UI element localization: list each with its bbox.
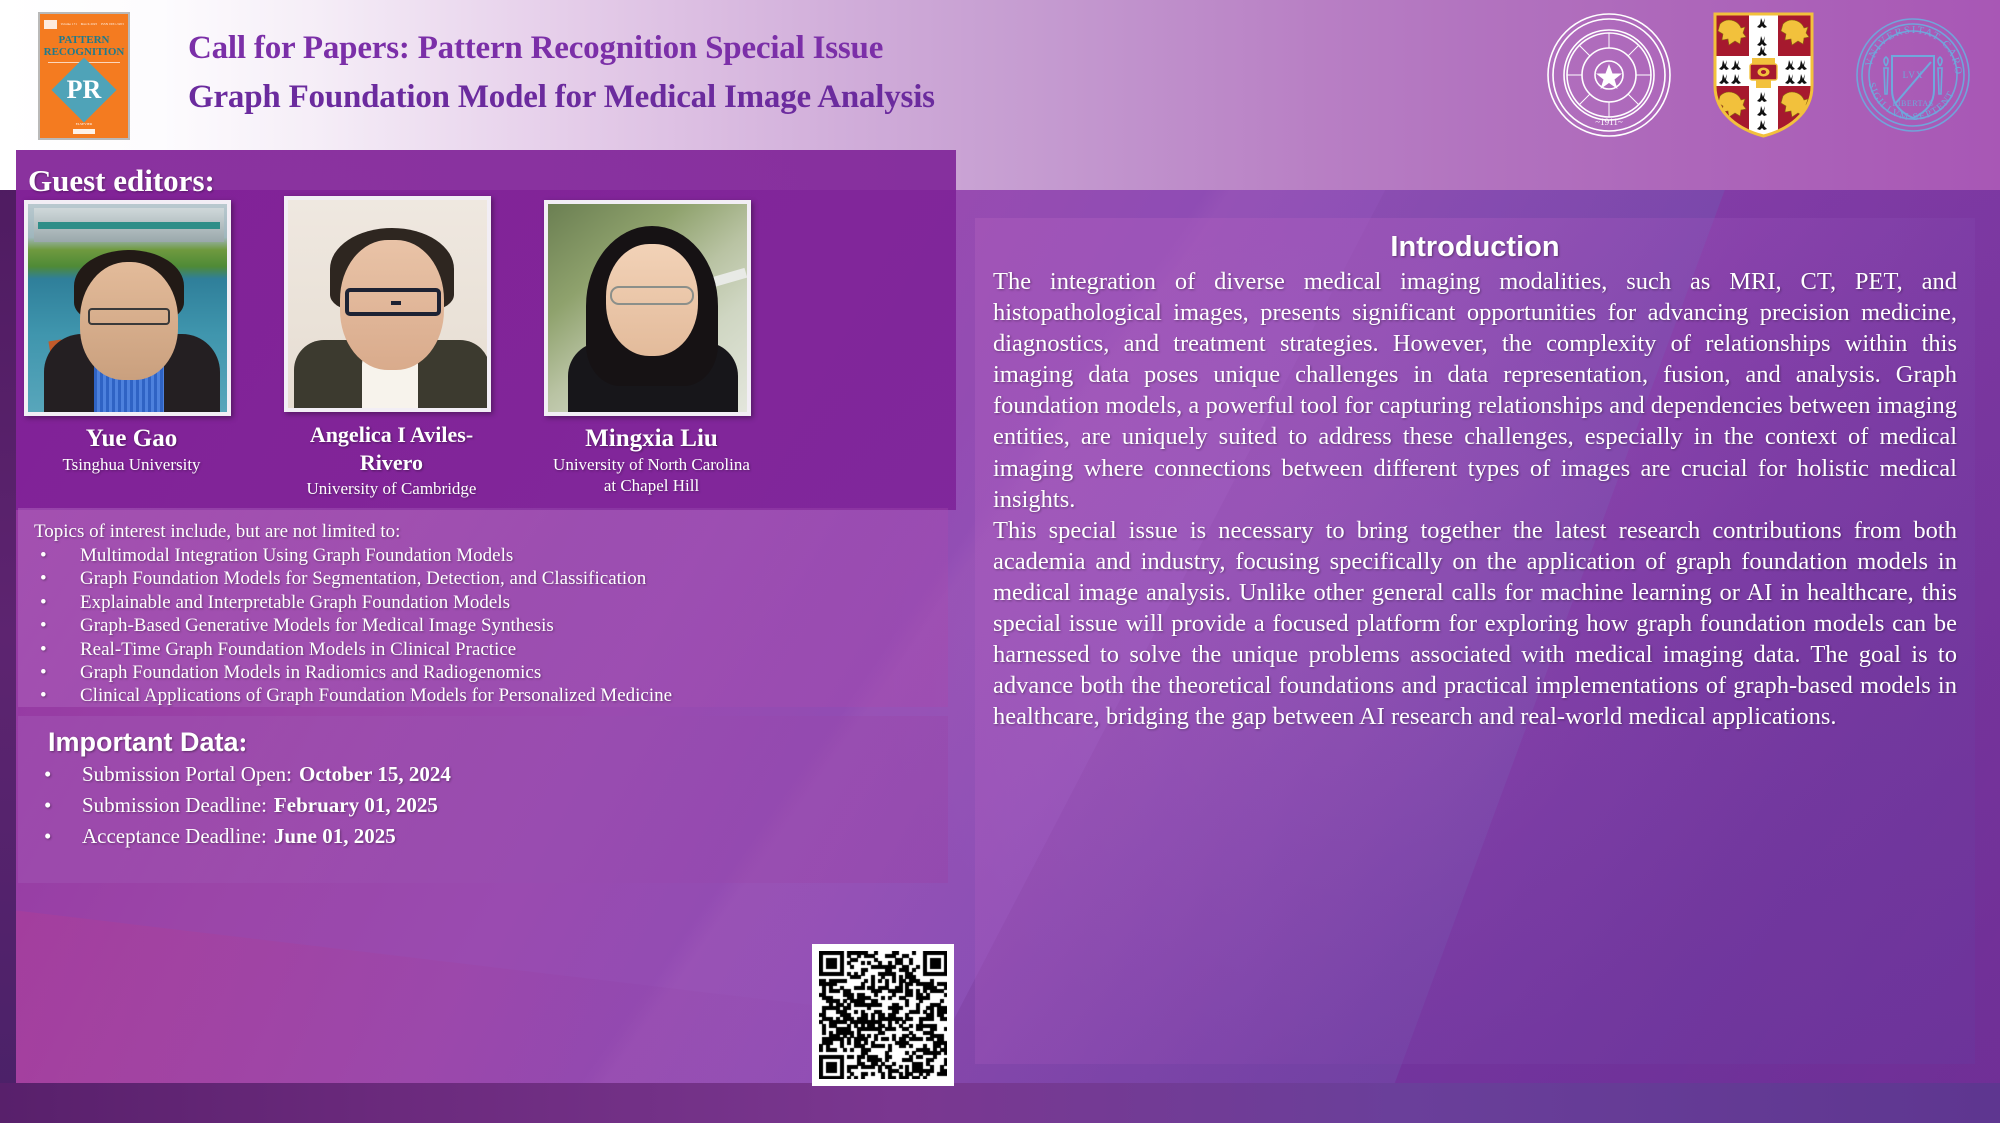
university-of-cambridge-coat-of-arms-icon xyxy=(1711,10,1816,140)
introduction-paragraph: This special issue is necessary to bring… xyxy=(993,515,1957,733)
bullet-icon: • xyxy=(34,821,82,852)
portrait-yue-gao xyxy=(24,200,231,416)
bullet-icon: • xyxy=(34,684,80,707)
bullet-icon: • xyxy=(34,591,80,614)
important-dates-heading-text: Important Data xyxy=(48,727,239,757)
call-for-papers-poster: Volume 171 March 2025 ISSN 0031-3203 PAT… xyxy=(0,0,2000,1123)
important-date-value: February 01, 2025 xyxy=(274,790,438,821)
guest-editors-heading: Guest editors: xyxy=(28,163,215,199)
guest-editor-affiliation: University of Cambridge xyxy=(284,478,499,499)
bullet-icon: • xyxy=(34,567,80,590)
guest-editor-affiliation: University of North Carolina at Chapel H… xyxy=(544,454,759,496)
journal-date: March 2025 xyxy=(81,22,98,26)
journal-monogram: PR xyxy=(40,76,128,104)
important-date-label: Submission Portal Open: xyxy=(82,759,292,790)
tsinghua-university-seal-icon: ~1911~ xyxy=(1545,11,1673,139)
bullet-icon: • xyxy=(34,614,80,637)
topic-item: • Graph Foundation Models for Segmentati… xyxy=(34,567,932,590)
topic-label: Graph Foundation Models for Segmentation… xyxy=(80,567,646,590)
unc-chapel-hill-seal-icon: LVX LIBERTAS VNIVERSITAT CAROL SIGILLVM … xyxy=(1854,16,1972,134)
topic-label: Multimodal Integration Using Graph Found… xyxy=(80,544,513,567)
portrait-angelica-i-aviles-rivero xyxy=(284,196,491,412)
background-bottom-band xyxy=(0,1083,2000,1123)
svg-text:LVX: LVX xyxy=(1903,70,1924,80)
important-dates-panel: Important Data: • Submission Portal Open… xyxy=(18,716,948,883)
elsevier-logo-icon xyxy=(44,20,57,29)
guest-editor-card: Mingxia Liu University of North Carolina… xyxy=(544,200,759,503)
journal-title-line1: PATTERN xyxy=(40,34,128,46)
bullet-icon: • xyxy=(34,661,80,684)
important-date-item: • Acceptance Deadline: June 01, 2025 xyxy=(34,821,932,852)
journal-volume: Volume 171 xyxy=(61,22,78,26)
submission-qr-code[interactable] xyxy=(812,944,954,1086)
journal-title-line2: RECOGNITION xyxy=(40,46,128,58)
guest-editors-list: Yue Gao Tsinghua University Angelica I A… xyxy=(16,200,956,503)
journal-cover-topbar: Volume 171 March 2025 ISSN 0031-3203 xyxy=(44,19,124,29)
important-date-item: • Submission Deadline: February 01, 2025 xyxy=(34,790,932,821)
important-date-value: October 15, 2024 xyxy=(299,759,451,790)
svg-text:~1911~: ~1911~ xyxy=(1595,117,1623,127)
introduction-paragraph: The integration of diverse medical imagi… xyxy=(993,266,1957,515)
guest-editor-card: Yue Gao Tsinghua University xyxy=(24,200,239,503)
guest-editor-name: Angelica I Aviles-Rivero xyxy=(284,421,499,477)
journal-publisher-mark xyxy=(73,129,95,134)
topic-label: Explainable and Interpretable Graph Foun… xyxy=(80,591,510,614)
journal-issn: ISSN 0031-3203 xyxy=(101,22,124,26)
guest-editor-name: Mingxia Liu xyxy=(544,425,759,453)
bullet-icon: • xyxy=(34,638,80,661)
topic-label: Graph Foundation Models in Radiomics and… xyxy=(80,661,541,684)
topic-label: Clinical Applications of Graph Foundatio… xyxy=(80,684,672,707)
poster-title-block: Call for Papers: Pattern Recognition Spe… xyxy=(188,24,1368,122)
important-date-label: Submission Deadline: xyxy=(82,790,267,821)
guest-editor-affiliation-line2: at Chapel Hill xyxy=(544,475,759,496)
poster-title-line-1: Call for Papers: Pattern Recognition Spe… xyxy=(188,24,1368,73)
topic-item: • Real-Time Graph Foundation Models in C… xyxy=(34,638,932,661)
guest-editor-affiliation: Tsinghua University xyxy=(24,454,239,475)
bullet-icon: • xyxy=(34,790,82,821)
topic-item: • Graph-Based Generative Models for Medi… xyxy=(34,614,932,637)
important-date-label: Acceptance Deadline: xyxy=(82,821,267,852)
topic-item: • Explainable and Interpretable Graph Fo… xyxy=(34,591,932,614)
topics-of-interest-panel: Topics of interest include, but are not … xyxy=(18,508,948,707)
journal-cover-title: PATTERN RECOGNITION xyxy=(40,34,128,58)
bullet-icon: • xyxy=(34,759,82,790)
bullet-icon: • xyxy=(34,544,80,567)
topic-item: • Graph Foundation Models in Radiomics a… xyxy=(34,661,932,684)
important-dates-heading-colon: : xyxy=(239,727,248,757)
poster-title-line-2: Graph Foundation Model for Medical Image… xyxy=(188,73,1368,122)
background-left-strip xyxy=(0,150,16,1123)
introduction-panel: Introduction The integration of diverse … xyxy=(975,218,1975,1064)
topic-item: • Multimodal Integration Using Graph Fou… xyxy=(34,544,932,567)
journal-cover-thumbnail: Volume 171 March 2025 ISSN 0031-3203 PAT… xyxy=(38,12,130,140)
institution-logos: ~1911~ xyxy=(1545,10,1972,140)
important-dates-heading: Important Data: xyxy=(48,726,932,759)
topics-lead-text: Topics of interest include, but are not … xyxy=(34,520,932,544)
journal-publisher-text: ELSEVIER xyxy=(40,122,128,126)
topic-label: Graph-Based Generative Models for Medica… xyxy=(80,614,554,637)
guest-editor-name: Yue Gao xyxy=(24,425,239,453)
important-date-item: • Submission Portal Open: October 15, 20… xyxy=(34,759,932,790)
topic-item: • Clinical Applications of Graph Foundat… xyxy=(34,684,932,707)
introduction-heading: Introduction xyxy=(993,228,1957,266)
guest-editor-affiliation-line1: University of North Carolina xyxy=(544,454,759,475)
guest-editor-card: Angelica I Aviles-Rivero University of C… xyxy=(284,196,499,499)
svg-text:LIBERTAS: LIBERTAS xyxy=(1892,99,1933,108)
important-date-value: June 01, 2025 xyxy=(274,821,396,852)
topic-label: Real-Time Graph Foundation Models in Cli… xyxy=(80,638,516,661)
portrait-mingxia-liu xyxy=(544,200,751,416)
